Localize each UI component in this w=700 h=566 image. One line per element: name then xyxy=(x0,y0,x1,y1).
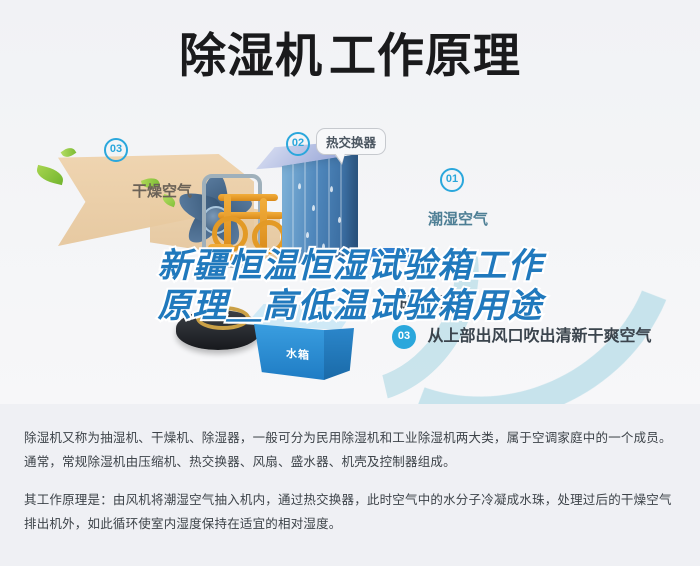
coil-ring xyxy=(252,220,286,254)
infographic-hero: 除湿机工作原理 xyxy=(0,0,700,404)
condensation-drop xyxy=(330,186,333,192)
callout-badge-01: 01 xyxy=(440,168,464,192)
heat-exchanger-tooltip: 热交换器 xyxy=(316,128,386,155)
heat-exchanger-fin xyxy=(304,162,306,262)
compressor-coil-illustration xyxy=(204,182,290,266)
heat-exchanger-fin xyxy=(316,160,318,260)
paragraph-2: 其工作原理是：由风机将潮湿空气抽入机内，通过热交换器，此时空气中的水分子冷凝成水… xyxy=(24,488,676,536)
condensation-drop xyxy=(312,205,315,211)
callout-dry-air: 03 干燥空气 xyxy=(104,138,192,201)
step-text-02: 成水珠 xyxy=(399,296,447,313)
diagram-stage: 水箱 03 干燥空气 02 热交换器 01 潮湿空气 成水珠 03 xyxy=(0,120,700,404)
step-line-03: 03 从上部出风口吹出清新干爽空气 xyxy=(392,322,651,349)
water-tank-side xyxy=(324,328,354,380)
callout-heat-exchanger: 02 xyxy=(286,132,310,156)
callout-badge-02: 02 xyxy=(286,132,310,156)
callout-label-dry-air: 干燥空气 xyxy=(132,180,192,201)
page-root: 除湿机工作原理 xyxy=(0,0,700,566)
water-tank-illustration: 水箱 xyxy=(246,304,356,380)
callout-badge-03: 03 xyxy=(104,138,128,162)
condensation-drop xyxy=(306,232,309,238)
callout-label-humid-air: 潮湿空气 xyxy=(428,208,488,229)
page-title-part1: 除湿机 xyxy=(179,29,323,82)
condensation-drop xyxy=(322,243,325,249)
page-title: 除湿机工作原理 xyxy=(0,26,700,86)
callout-humid-air: 01 潮湿空气 xyxy=(440,168,488,229)
article-body: 除湿机又称为抽湿机、干燥机、除湿器，一般可分为民用除湿机和工业除湿机两大类，属于… xyxy=(0,404,700,566)
coil-block xyxy=(208,244,234,264)
step-badge-03: 03 xyxy=(392,325,416,349)
heat-exchanger-fin xyxy=(292,164,294,264)
heat-exchanger-block xyxy=(282,154,358,266)
paragraph-1: 除湿机又称为抽湿机、干燥机、除湿器，一般可分为民用除湿机和工业除湿机两大类，属于… xyxy=(24,426,676,474)
heat-exchanger-fin xyxy=(328,158,330,258)
compressor-drum-ring xyxy=(196,306,250,330)
step-text-03: 从上部出风口吹出清新干爽空气 xyxy=(427,328,651,345)
heat-exchanger-fin xyxy=(340,157,342,257)
condensation-drop xyxy=(298,183,301,189)
leaf-icon xyxy=(35,165,66,185)
step-line-02: 成水珠 xyxy=(392,290,447,314)
water-tank-label: 水箱 xyxy=(286,345,310,364)
